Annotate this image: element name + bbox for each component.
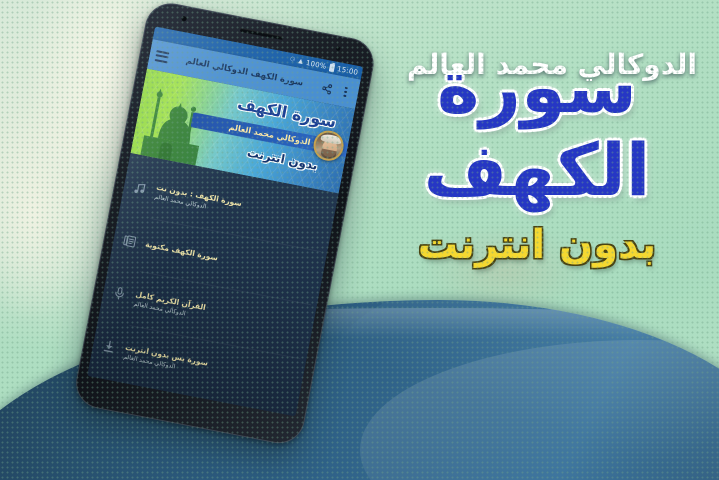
poster-title-block: سورة الكهف بدون انترنت	[367, 46, 707, 268]
music-note-icon[interactable]	[132, 180, 148, 196]
playlist-document-icon[interactable]	[121, 233, 137, 249]
hamburger-menu-icon[interactable]	[155, 50, 170, 63]
share-icon[interactable]	[319, 79, 335, 97]
microphone-icon[interactable]	[111, 286, 127, 302]
list-item-title: سورة الكهف مكتوبة	[144, 239, 218, 263]
poster-title-main: سورة الكهف	[367, 46, 707, 212]
track-rows: سورة الكهف : بدون نت الدوكالي محمد العال…	[119, 165, 331, 411]
promo-poster: سورة الكهف بدون انترنت الدوكالي محمد الع…	[0, 0, 719, 480]
poster-title-sub: بدون انترنت	[367, 222, 707, 268]
avatar-beard	[320, 148, 336, 160]
sync-icon: ⚆	[289, 56, 296, 64]
phone-camera-icon	[181, 15, 188, 22]
phone-earpiece	[240, 28, 284, 40]
overflow-menu-icon[interactable]	[338, 83, 354, 101]
track-list: سورة الكهف : بدون نت الدوكالي محمد العال…	[87, 153, 338, 416]
battery-icon	[329, 63, 335, 72]
download-icon[interactable]	[101, 338, 117, 354]
phone-sensor-icon	[336, 46, 341, 51]
signal-icon: ▲	[298, 57, 304, 65]
